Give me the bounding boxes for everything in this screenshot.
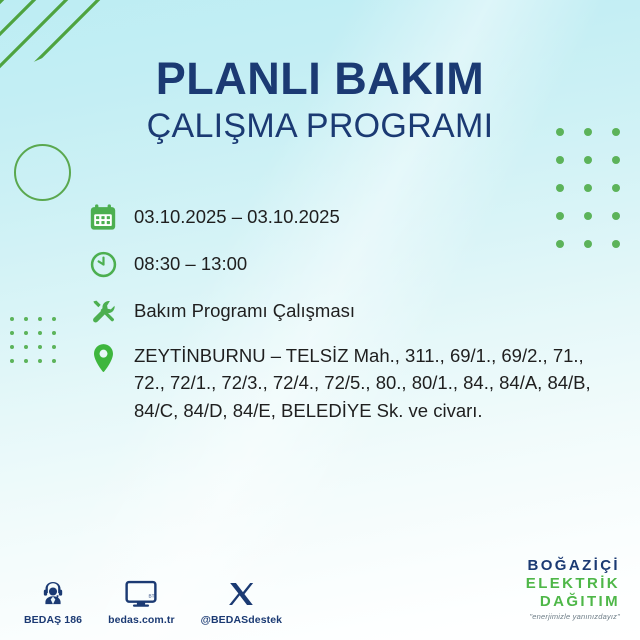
contact-x[interactable]: @BEDASdestek (201, 574, 282, 626)
logo-line-dagitim: DAĞITIM (526, 594, 620, 609)
calendar-icon (86, 200, 120, 234)
detail-row-worktype: Bakım Programı Çalışması (86, 294, 592, 328)
clock-icon (86, 247, 120, 281)
company-logo: BOĞAZİÇİ ELEKTRİK DAĞITIM "enerjimizle y… (526, 558, 620, 621)
affected-area-value: ZEYTİNBURNU – TELSİZ Mah., 311., 69/1., … (134, 341, 592, 424)
detail-row-time: 08:30 – 13:00 (86, 247, 592, 281)
page-title: PLANLI BAKIM (0, 55, 640, 102)
svg-text:BT: BT (149, 594, 155, 599)
logo-line-bogazici: BOĞAZİÇİ (526, 558, 620, 573)
date-range-value: 03.10.2025 – 03.10.2025 (134, 200, 340, 230)
circle-outline-decoration (14, 144, 71, 201)
logo-line-elektrik: ELEKTRİK (526, 576, 620, 591)
detail-row-date: 03.10.2025 – 03.10.2025 (86, 200, 592, 234)
contact-phone[interactable]: BEDAŞ 186 (24, 574, 82, 626)
monitor-icon: BT (125, 574, 157, 608)
contact-website[interactable]: BT bedas.com.tr (108, 574, 175, 626)
contact-x-label: @BEDASdestek (201, 614, 282, 626)
work-type-value: Bakım Programı Çalışması (134, 294, 355, 324)
time-range-value: 08:30 – 13:00 (134, 247, 247, 277)
location-pin-icon (86, 341, 120, 375)
contact-channels: BEDAŞ 186 BT bedas.com.tr (24, 574, 308, 626)
page-subtitle: ÇALIŞMA PROGRAMI (0, 108, 640, 145)
logo-tagline: "enerjimizle yanınızdayız" (526, 613, 620, 621)
tools-icon (86, 294, 120, 328)
x-twitter-icon (227, 574, 255, 608)
contact-phone-label: BEDAŞ 186 (24, 614, 82, 626)
poster-footer: BEDAŞ 186 BT bedas.com.tr (0, 552, 640, 632)
outage-details: 03.10.2025 – 03.10.2025 08:30 – 13:00 (86, 200, 592, 424)
detail-row-location: ZEYTİNBURNU – TELSİZ Mah., 311., 69/1., … (86, 341, 592, 424)
dot-grid-left-decoration (10, 317, 66, 373)
poster-canvas: PLANLI BAKIM ÇALIŞMA PROGRAMI (0, 0, 640, 640)
contact-website-label: bedas.com.tr (108, 614, 175, 626)
headset-support-icon (38, 574, 68, 608)
poster-header: PLANLI BAKIM ÇALIŞMA PROGRAMI (0, 55, 640, 146)
